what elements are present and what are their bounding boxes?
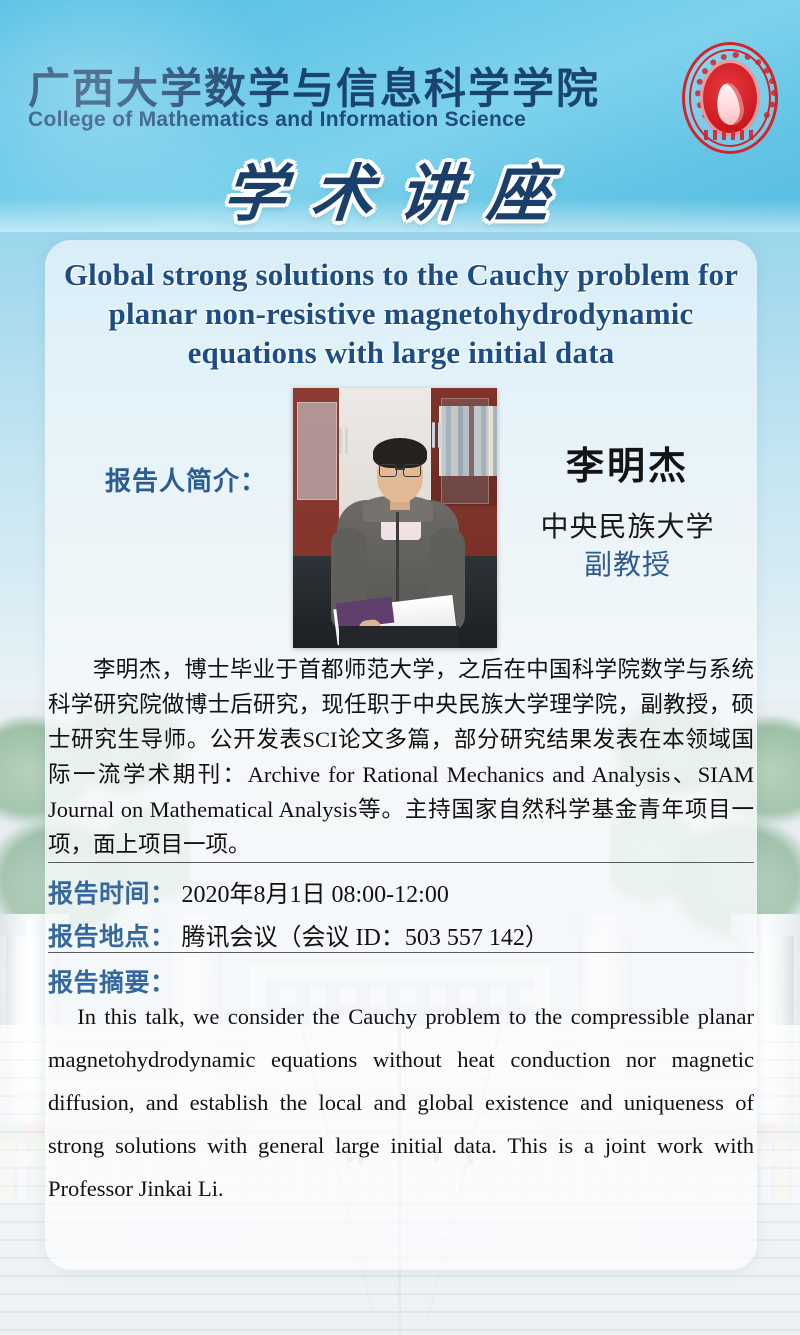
photo-glasses-icon	[379, 464, 421, 475]
talk-title: Global strong solutions to the Cauchy pr…	[45, 255, 757, 372]
talk-time-row: 报告时间： 2020年8月1日 08:00-12:00	[48, 874, 754, 910]
photo-cabinet-glass-right	[441, 398, 489, 504]
organization-name-cn: 广西大学数学与信息科学学院	[28, 55, 600, 116]
speaker-name: 李明杰	[505, 435, 750, 490]
banner-title: 学术讲座	[0, 143, 800, 233]
photo-cabinet-handle	[432, 422, 435, 448]
speaker-intro-label: 报告人简介：	[105, 461, 267, 498]
seal-core	[700, 60, 760, 136]
university-seal-icon	[682, 42, 778, 154]
photo-cabinet-handle	[345, 428, 348, 454]
divider-above-time	[48, 862, 754, 863]
seal-flame-emblem	[714, 81, 746, 126]
talk-place-label: 报告地点：	[48, 917, 176, 953]
abstract-label: 报告摘要：	[48, 963, 176, 999]
speaker-rank: 副教授	[505, 543, 750, 583]
talk-place-row: 报告地点： 腾讯会议（会议 ID：503 557 142）	[48, 917, 754, 953]
talk-time-value: 2020年8月1日 08:00-12:00	[182, 874, 449, 909]
divider-above-abstract	[48, 952, 754, 953]
photo-legs	[339, 626, 459, 648]
speaker-affiliation: 中央民族大学	[505, 505, 750, 545]
speaker-photo	[293, 388, 497, 648]
photo-glasses-bridge	[395, 468, 405, 470]
seminar-poster: 广西大学数学与信息科学学院 College of Mathematics and…	[0, 0, 800, 1335]
photo-cabinet-handle	[438, 422, 441, 448]
seal-base-text	[704, 130, 756, 140]
talk-place-value: 腾讯会议（会议 ID：503 557 142）	[182, 917, 549, 952]
talk-time-label: 报告时间：	[48, 874, 176, 910]
abstract-text: In this talk, we consider the Cauchy pro…	[48, 995, 754, 1210]
photo-cabinet-handle	[339, 428, 342, 454]
photo-cabinet-glass-left	[297, 402, 337, 500]
speaker-biography: 李明杰，博士毕业于首都师范大学，之后在中国科学院数学与系统科学研究院做博士后研究…	[48, 652, 754, 862]
organization-name-en: College of Mathematics and Information S…	[28, 108, 526, 132]
